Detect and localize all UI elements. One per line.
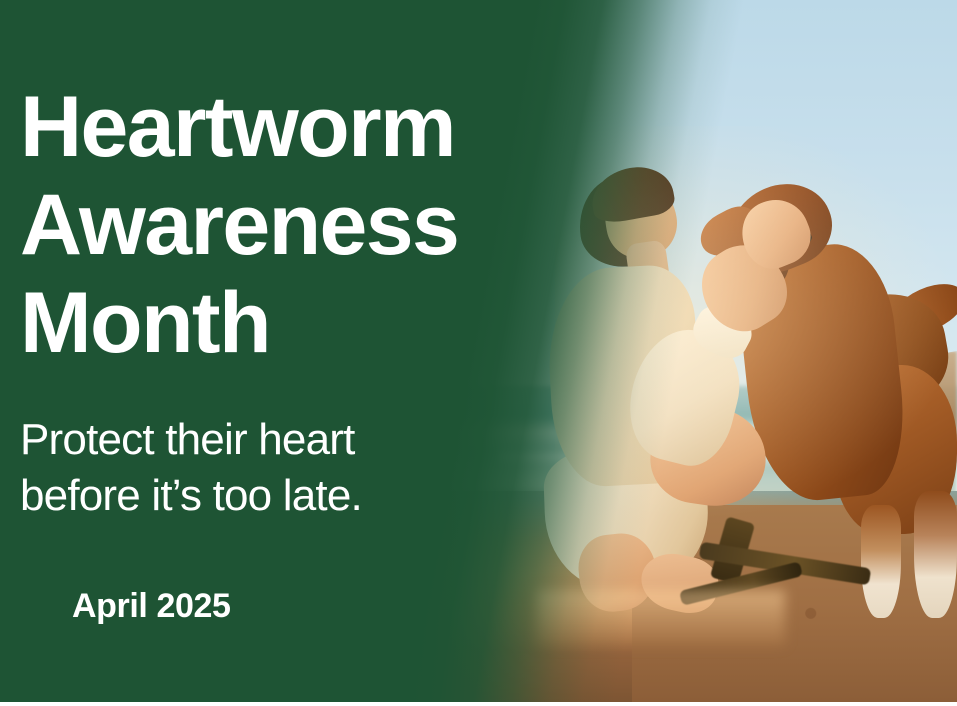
subheading: Protect their heart before it’s too late…: [20, 412, 490, 524]
heartworm-awareness-poster: Heartworm Awareness Month Protect their …: [0, 0, 957, 706]
copy-block: Heartworm Awareness Month Protect their …: [0, 0, 600, 702]
page-title: Heartworm Awareness Month: [20, 78, 580, 372]
date-label: April 2025: [72, 586, 231, 626]
bottom-white-strip: [0, 702, 957, 706]
